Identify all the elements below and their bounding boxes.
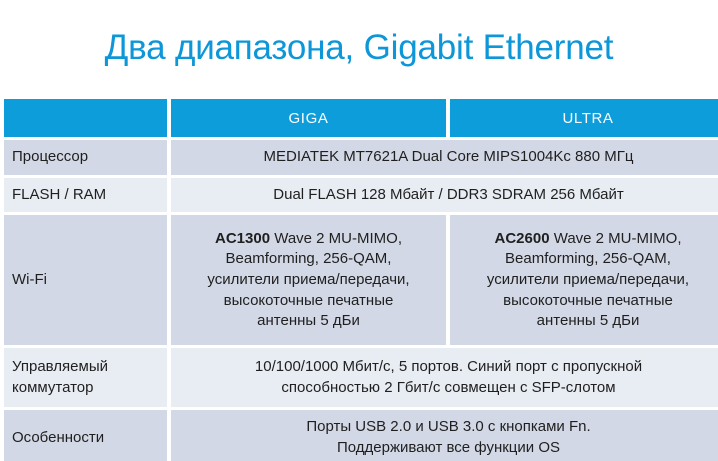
table-header-giga: GIGA	[171, 99, 446, 137]
table-header-label-column	[4, 99, 167, 137]
table-header-row: GIGA ULTRA	[4, 99, 718, 137]
table-body: Процессор MEDIATEK MT7621A Dual Core MIP…	[4, 140, 718, 461]
managed-switch-line-1: 10/100/1000 Мбит/с, 5 портов. Синий порт…	[181, 357, 716, 378]
wifi-giga-line-2: Beamforming, 256-QAM,	[181, 249, 436, 270]
row-value-wifi-ultra: AC2600 Wave 2 MU-MIMO, Beamforming, 256-…	[450, 215, 718, 345]
row-label-processor: Процессор	[4, 140, 167, 175]
row-label-features: Особенности	[4, 410, 167, 461]
wifi-giga-standard: AC1300	[215, 230, 270, 247]
wifi-ultra-line-1-text: Wave 2 MU-MIMO,	[550, 230, 682, 247]
row-value-flash-ram: Dual FLASH 128 Мбайт / DDR3 SDRAM 256 Мб…	[171, 178, 718, 213]
managed-switch-line-2: способностью 2 Гбит/с совмещен с SFP-сло…	[181, 378, 716, 399]
wifi-ultra-standard: AC2600	[495, 230, 550, 247]
table-header-ultra: ULTRA	[450, 99, 718, 137]
table-row: Wi-Fi AC1300 Wave 2 MU-MIMO, Beamforming…	[4, 215, 718, 345]
features-line-1: Порты USB 2.0 и USB 3.0 с кнопками Fn.	[181, 417, 716, 438]
row-label-managed-switch-line-1: Управляемый	[12, 357, 167, 378]
features-line-2: Поддерживают все функции OS	[181, 438, 716, 459]
wifi-ultra-line-2: Beamforming, 256-QAM,	[460, 249, 716, 270]
specification-table: GIGA ULTRA Процессор MEDIATEK MT7621A Du…	[0, 96, 718, 461]
wifi-giga-line-5: антенны 5 дБи	[181, 311, 436, 332]
row-value-features: Порты USB 2.0 и USB 3.0 с кнопками Fn. П…	[171, 410, 718, 461]
row-label-flash-ram: FLASH / RAM	[4, 178, 167, 213]
specification-slide: Два диапазона, Gigabit Ethernet GIGA ULT…	[0, 0, 718, 461]
row-label-managed-switch: Управляемый коммутатор	[4, 348, 167, 407]
wifi-giga-line-1-text: Wave 2 MU-MIMO,	[270, 230, 402, 247]
row-label-wifi: Wi-Fi	[4, 215, 167, 345]
row-label-managed-switch-line-2: коммутатор	[12, 378, 167, 399]
table-row: Управляемый коммутатор 10/100/1000 Мбит/…	[4, 348, 718, 407]
table-row: Особенности Порты USB 2.0 и USB 3.0 с кн…	[4, 410, 718, 461]
wifi-ultra-line-4: высокоточные печатные	[460, 291, 716, 312]
table-header: GIGA ULTRA	[4, 99, 718, 137]
wifi-giga-line-1: AC1300 Wave 2 MU-MIMO,	[181, 229, 436, 250]
table-row: Процессор MEDIATEK MT7621A Dual Core MIP…	[4, 140, 718, 175]
row-value-processor: MEDIATEK MT7621A Dual Core MIPS1004Kc 88…	[171, 140, 718, 175]
page-title: Два диапазона, Gigabit Ethernet	[0, 0, 718, 96]
table-row: FLASH / RAM Dual FLASH 128 Мбайт / DDR3 …	[4, 178, 718, 213]
wifi-ultra-line-3: усилители приема/передачи,	[460, 270, 716, 291]
row-value-wifi-giga: AC1300 Wave 2 MU-MIMO, Beamforming, 256-…	[171, 215, 446, 345]
wifi-giga-line-4: высокоточные печатные	[181, 291, 436, 312]
wifi-giga-line-3: усилители приема/передачи,	[181, 270, 436, 291]
wifi-ultra-line-1: AC2600 Wave 2 MU-MIMO,	[460, 229, 716, 250]
wifi-ultra-line-5: антенны 5 дБи	[460, 311, 716, 332]
row-value-managed-switch: 10/100/1000 Мбит/с, 5 портов. Синий порт…	[171, 348, 718, 407]
